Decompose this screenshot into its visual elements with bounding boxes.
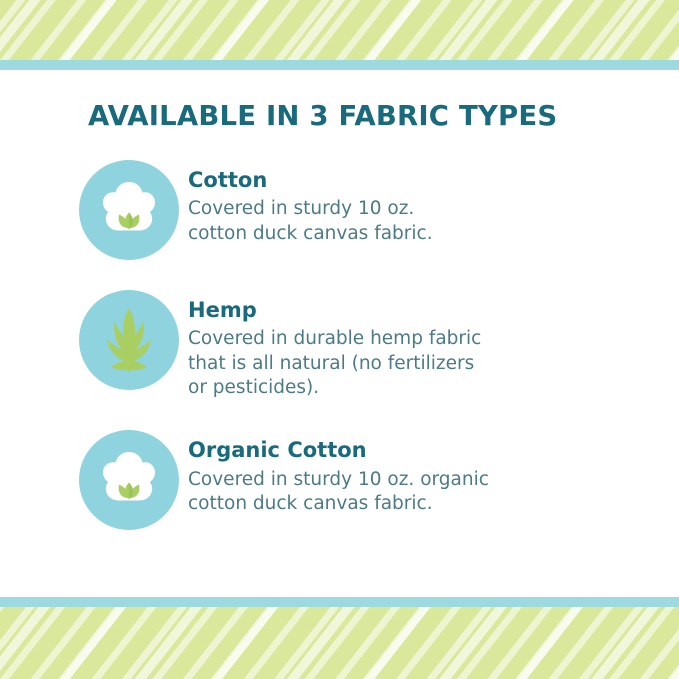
item-text: Organic Cotton Covered in sturdy 10 oz. … <box>188 428 630 516</box>
hemp-leaf-icon <box>79 290 179 390</box>
item-description: Covered in sturdy 10 oz. organic cotton … <box>188 468 588 517</box>
band-dot-pattern <box>0 607 679 679</box>
icon-container <box>70 428 188 530</box>
list-item: Hemp Covered in durable hemp fabric that… <box>70 288 630 400</box>
item-description: Covered in sturdy 10 oz. cotton duck can… <box>188 197 588 246</box>
content-area: AVAILABLE IN 3 FABRIC TYPES <box>0 70 679 607</box>
fabric-type-list: Cotton Covered in sturdy 10 oz. cotton d… <box>70 158 630 558</box>
bottom-decorative-band <box>0 607 679 679</box>
item-title: Hemp <box>188 298 630 322</box>
icon-container <box>70 158 188 260</box>
list-item: Cotton Covered in sturdy 10 oz. cotton d… <box>70 158 630 260</box>
top-teal-rule <box>0 60 679 70</box>
item-title: Organic Cotton <box>188 438 630 462</box>
item-text: Cotton Covered in sturdy 10 oz. cotton d… <box>188 158 630 246</box>
list-item: Organic Cotton Covered in sturdy 10 oz. … <box>70 428 630 530</box>
page-title: AVAILABLE IN 3 FABRIC TYPES <box>88 100 557 132</box>
item-text: Hemp Covered in durable hemp fabric that… <box>188 288 630 400</box>
fabric-types-infographic: AVAILABLE IN 3 FABRIC TYPES <box>0 0 679 679</box>
item-description: Covered in durable hemp fabric that is a… <box>188 327 588 400</box>
item-title: Cotton <box>188 168 630 192</box>
organic-cotton-boll-icon <box>79 430 179 530</box>
bottom-teal-rule <box>0 597 679 607</box>
cotton-boll-icon <box>79 160 179 260</box>
top-decorative-band <box>0 0 679 60</box>
band-dot-pattern <box>0 0 679 60</box>
icon-container <box>70 288 188 390</box>
